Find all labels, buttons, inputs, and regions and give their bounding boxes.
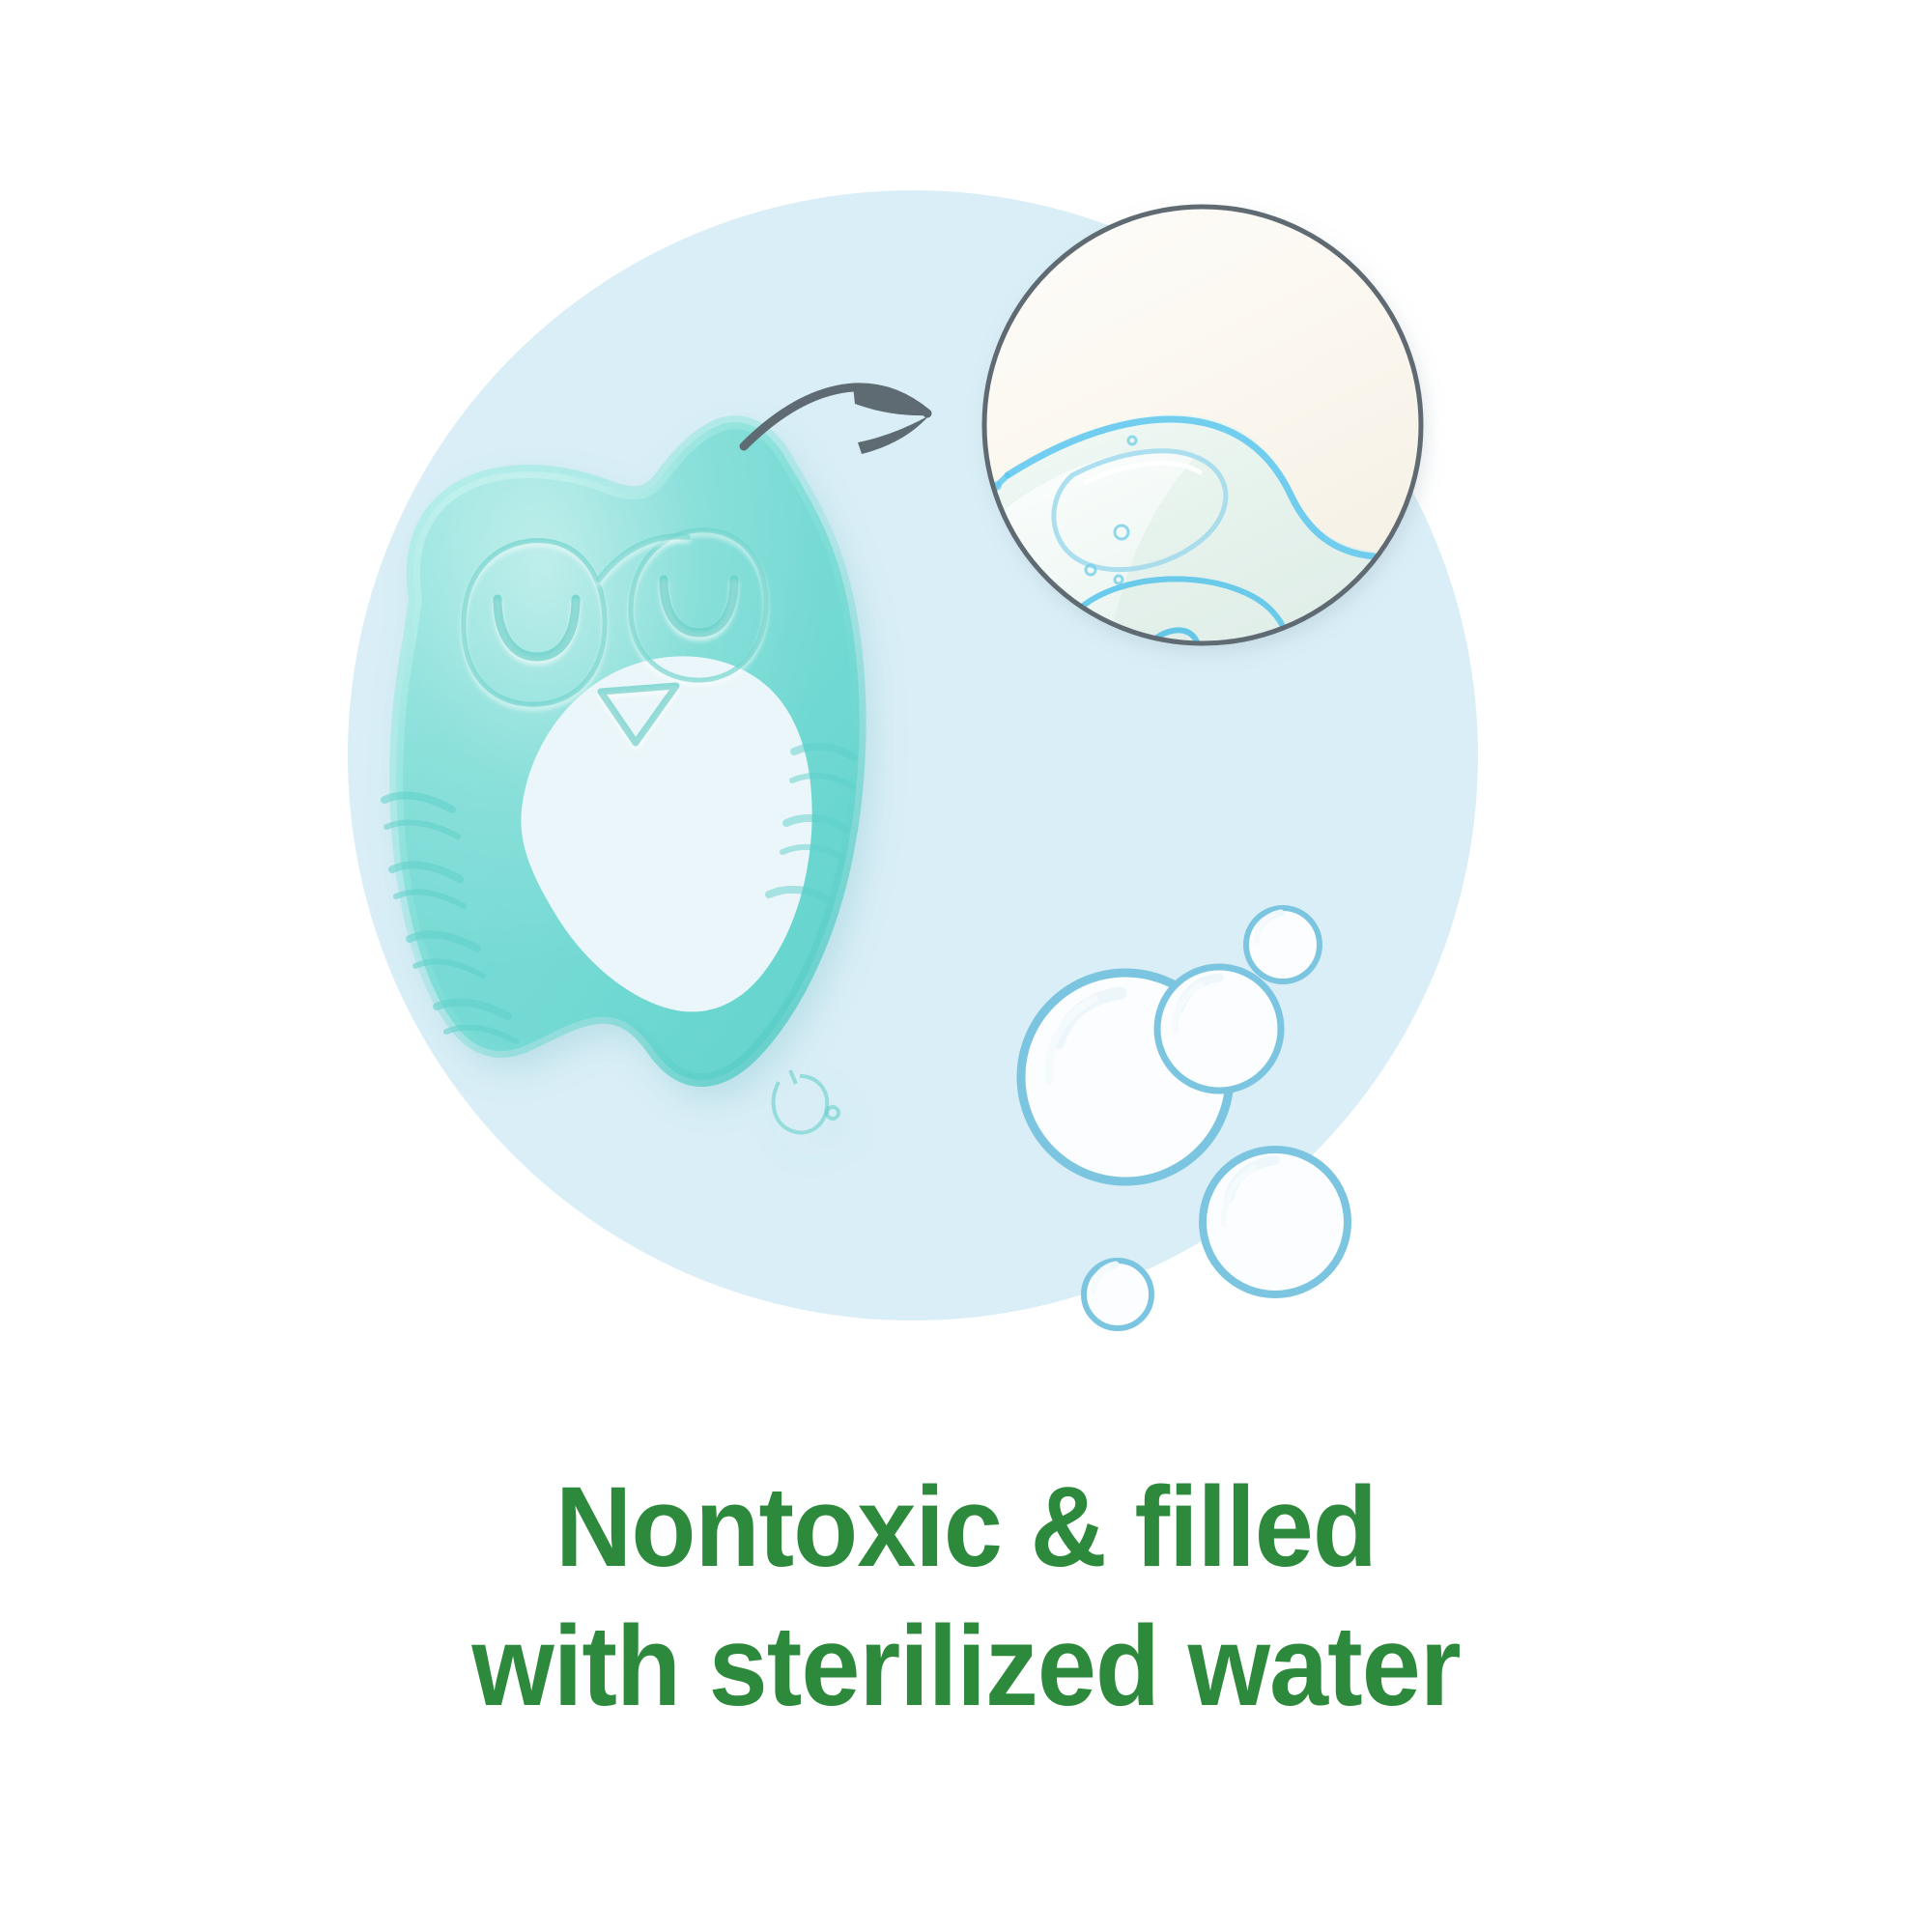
headline-line-2: with sterilized water xyxy=(68,1598,1864,1737)
bubble-medium-upper xyxy=(1157,967,1281,1091)
product-feature-graphic: Nontoxic & filled with sterilized water xyxy=(0,0,1932,1932)
page-headline: Nontoxic & filled with sterilized water xyxy=(68,1459,1864,1737)
bubble-small-top xyxy=(1246,908,1320,981)
headline-line-1: Nontoxic & filled xyxy=(68,1459,1864,1598)
bubble-tiny-bottom xyxy=(1084,1261,1151,1328)
bubble-medium-lower xyxy=(1203,1150,1348,1294)
